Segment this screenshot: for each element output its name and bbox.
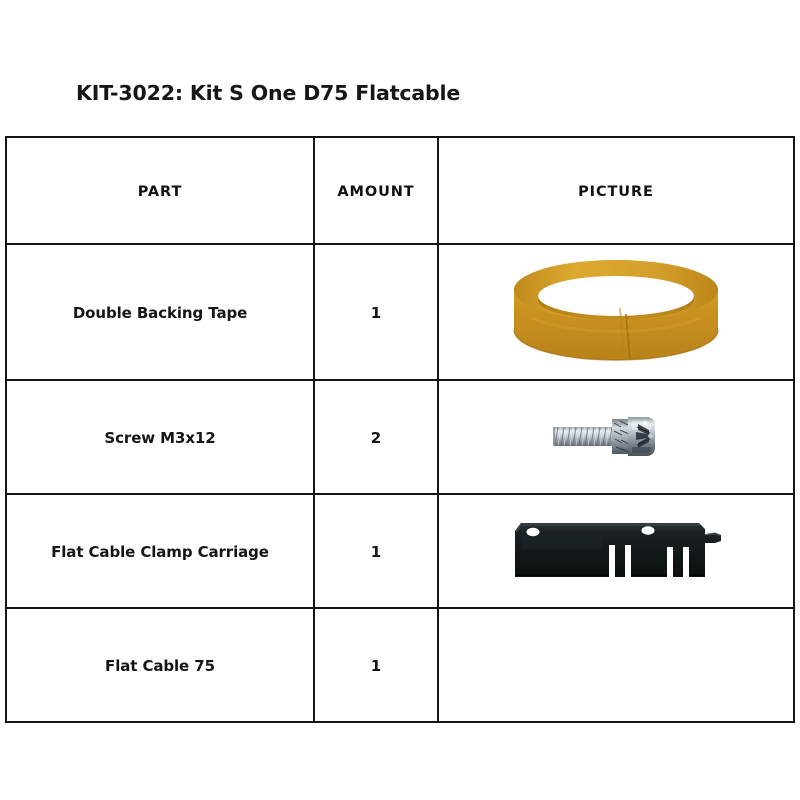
cell-picture-empty: [438, 608, 794, 722]
screw-m3x12-image: [550, 406, 682, 468]
cell-picture: [438, 244, 794, 380]
header-cell-picture: PICTURE: [438, 137, 794, 244]
header-cell-part: PART: [6, 137, 314, 244]
column-header-part: PART: [138, 184, 183, 200]
part-name-label: Flat Cable 75: [105, 657, 215, 675]
cell-amount: 2: [314, 380, 438, 494]
parts-table: PART AMOUNT PICTURE Double Backing Tape …: [5, 136, 795, 723]
picture-wrapper-empty: [439, 609, 793, 721]
page-title: KIT-3022: Kit S One D75 Flatcable: [76, 81, 460, 105]
cell-part-name: Flat Cable Clamp Carriage: [6, 494, 314, 608]
header-cell-amount: AMOUNT: [314, 137, 438, 244]
amount-value: 1: [371, 304, 381, 322]
double-backing-tape-image: [508, 256, 724, 368]
cell-picture: [438, 380, 794, 494]
part-name-label: Screw M3x12: [104, 429, 215, 447]
part-name-label: Double Backing Tape: [73, 304, 247, 322]
amount-value: 1: [371, 657, 381, 675]
part-name-label: Flat Cable Clamp Carriage: [51, 543, 269, 561]
picture-wrapper: [439, 381, 793, 493]
column-header-amount: AMOUNT: [337, 184, 414, 200]
amount-value: 1: [371, 543, 381, 561]
cell-picture: [438, 494, 794, 608]
table-row: Flat Cable Clamp Carriage 1: [6, 494, 794, 608]
picture-wrapper: [439, 495, 793, 607]
table-row: Screw M3x12 2: [6, 380, 794, 494]
cell-part-name: Flat Cable 75: [6, 608, 314, 722]
table-row: Double Backing Tape 1: [6, 244, 794, 380]
column-header-picture: PICTURE: [578, 184, 654, 200]
table-row: Flat Cable 75 1: [6, 608, 794, 722]
picture-wrapper: [439, 245, 793, 379]
cell-part-name: Screw M3x12: [6, 380, 314, 494]
cell-amount: 1: [314, 608, 438, 722]
amount-value: 2: [371, 429, 381, 447]
cell-amount: 1: [314, 494, 438, 608]
cell-amount: 1: [314, 244, 438, 380]
table-header-row: PART AMOUNT PICTURE: [6, 137, 794, 244]
flat-cable-clamp-carriage-image: [503, 513, 729, 589]
no-picture-placeholder: [616, 665, 617, 666]
cell-part-name: Double Backing Tape: [6, 244, 314, 380]
